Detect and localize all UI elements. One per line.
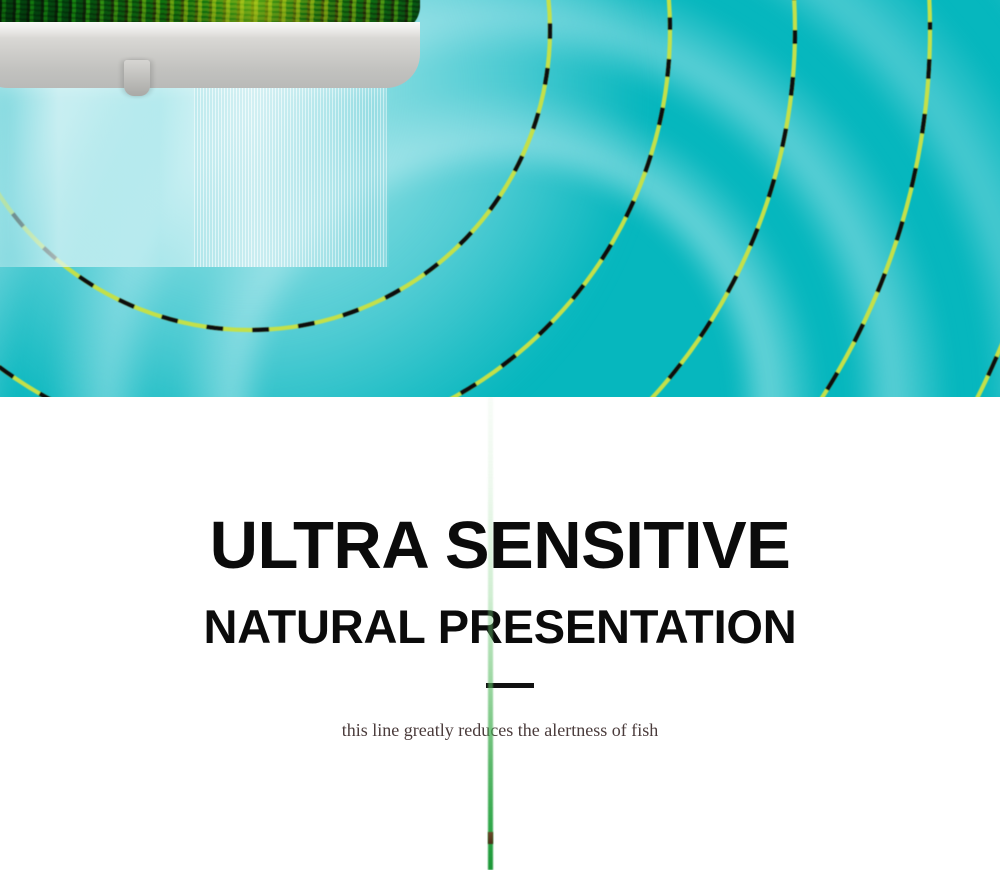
descending-fishing-line: [488, 397, 493, 870]
spool-flange-highlight: [0, 22, 420, 38]
headline-subtitle: NATURAL PRESENTATION: [0, 603, 1000, 650]
fishing-line-knot: [488, 832, 493, 844]
divider-rule: [486, 683, 534, 688]
tagline-text: this line greatly reduces the alertness …: [0, 721, 1000, 739]
fishing-line-spool: [0, 0, 444, 292]
headline-title: ULTRA SENSITIVE: [0, 512, 1000, 579]
spool-core-striations: [194, 77, 389, 267]
text-block: ULTRA SENSITIVE NATURAL PRESENTATION thi…: [0, 397, 1000, 870]
spool-notch: [124, 60, 150, 96]
product-feature-banner: ULTRA SENSITIVE NATURAL PRESENTATION thi…: [0, 0, 1000, 870]
hero-photo: [0, 0, 1000, 397]
